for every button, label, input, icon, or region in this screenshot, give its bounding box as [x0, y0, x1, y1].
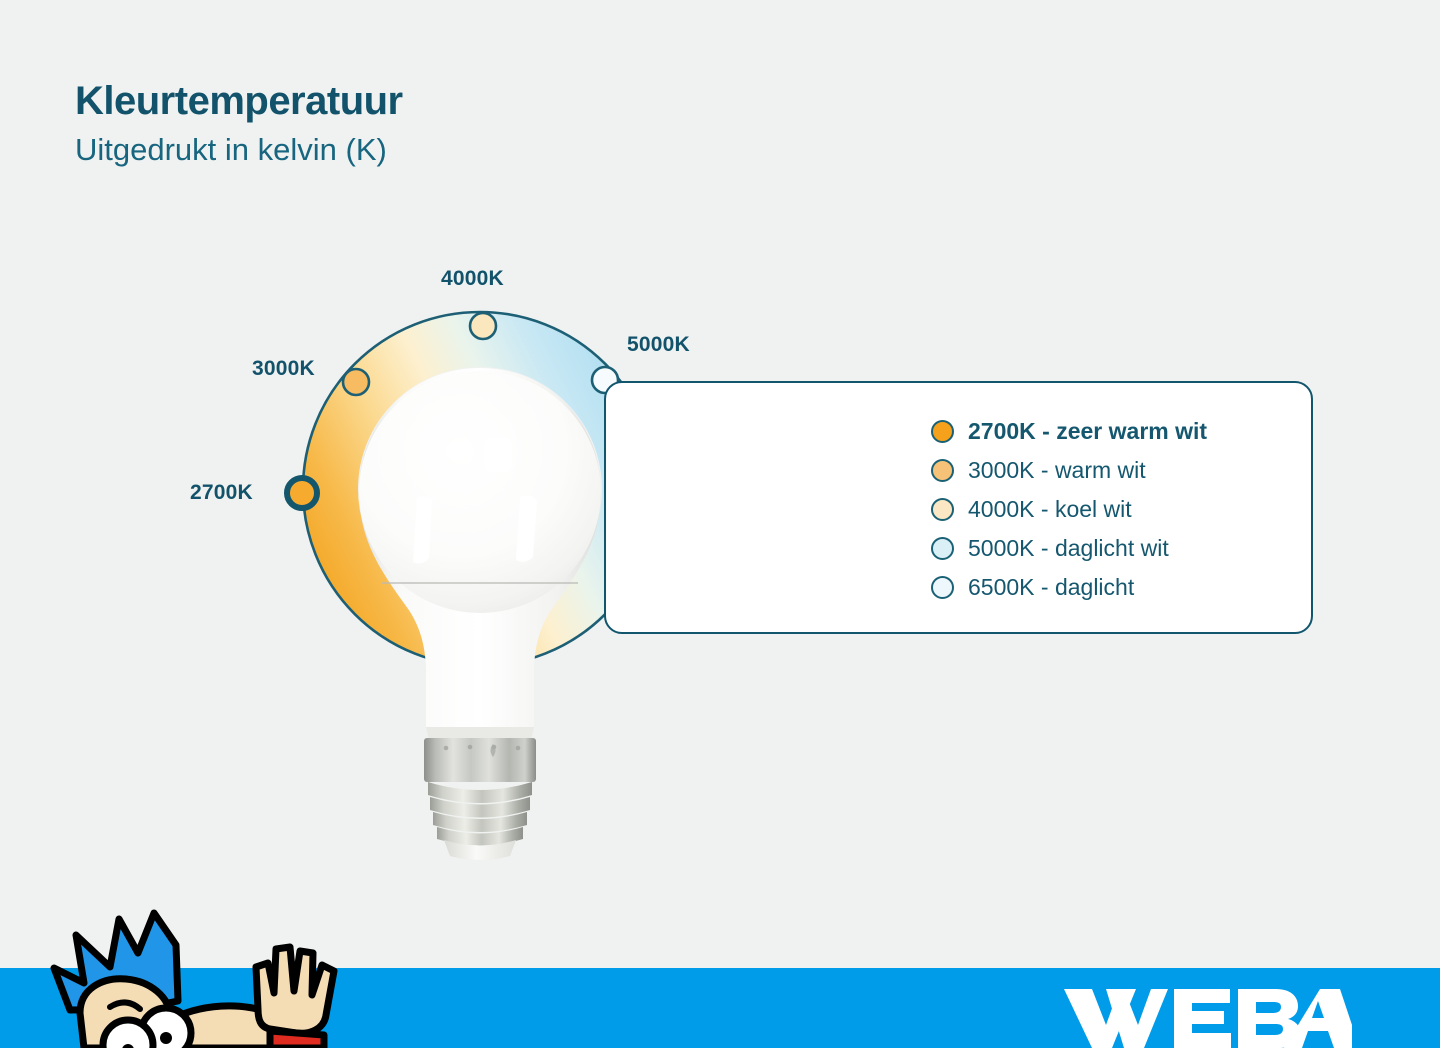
legend-list: 2700K - zeer warm wit 3000K - warm wit 4…	[931, 412, 1207, 607]
legend-panel: 2700K - zeer warm wit 3000K - warm wit 4…	[604, 381, 1313, 634]
legend-swatch-5000	[931, 537, 954, 560]
legend-label-4000: 4000K - koel wit	[968, 498, 1132, 521]
infographic-canvas: Kleurtemperatuur Uitgedrukt in kelvin (K…	[0, 0, 1440, 1048]
legend-item-5000[interactable]: 5000K - daglicht wit	[931, 529, 1207, 568]
tick-label-5000: 5000K	[627, 333, 690, 357]
legend-swatch-4000	[931, 498, 954, 521]
legend-label-6500: 6500K - daglicht	[968, 576, 1134, 599]
tick-marker-2700-active[interactable]	[287, 478, 317, 508]
legend-item-6500[interactable]: 6500K - daglicht	[931, 568, 1207, 607]
mascot-eye-left	[103, 1020, 153, 1048]
weba-logo	[1062, 985, 1352, 1048]
legend-label-3000: 3000K - warm wit	[968, 459, 1146, 482]
legend-swatch-6500	[931, 576, 954, 599]
legend-label-2700: 2700K - zeer warm wit	[968, 420, 1207, 443]
weba-mascot	[18, 905, 358, 1048]
tick-marker-3000[interactable]	[343, 369, 369, 395]
tick-label-2700: 2700K	[190, 481, 253, 505]
legend-item-2700[interactable]: 2700K - zeer warm wit	[931, 412, 1207, 451]
legend-item-4000[interactable]: 4000K - koel wit	[931, 490, 1207, 529]
tick-label-3000: 3000K	[252, 357, 315, 381]
legend-label-5000: 5000K - daglicht wit	[968, 537, 1169, 560]
tick-marker-4000[interactable]	[470, 313, 496, 339]
legend-swatch-3000	[931, 459, 954, 482]
mascot-hand	[256, 947, 334, 1033]
mascot-sleeve	[270, 1031, 324, 1048]
legend-swatch-2700	[931, 420, 954, 443]
legend-item-3000[interactable]: 3000K - warm wit	[931, 451, 1207, 490]
tick-label-4000: 4000K	[441, 267, 504, 291]
